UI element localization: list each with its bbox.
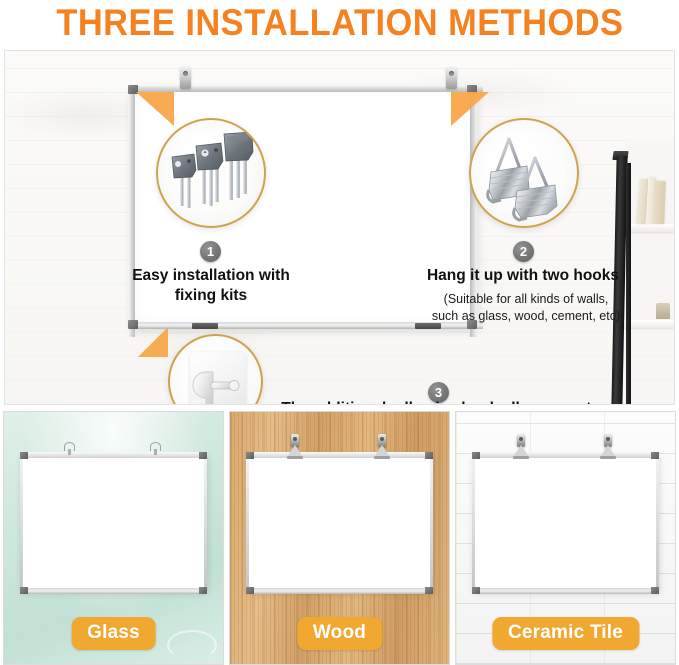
step-badge-1: 1 [200, 241, 221, 262]
callout-pointer-wedge [136, 92, 174, 126]
step-1-caption-line-1: Easy installation with [91, 266, 331, 286]
mini-corner [246, 452, 254, 459]
panel-label-glass: Glass [71, 617, 156, 650]
whiteboard-tray-clip [192, 323, 218, 329]
step-3-caption-line-1: The additional adhesive hook allows you … [243, 399, 639, 405]
clip-hook-icon [516, 434, 526, 456]
callout-circle-fixing-kit [156, 118, 266, 228]
infographic-page: THREE INSTALLATION METHODS [0, 0, 679, 665]
mini-frame-top [20, 452, 207, 458]
mini-frame-top [246, 452, 433, 458]
panel-label-ceramic-tile: Ceramic Tile [492, 617, 639, 650]
mini-frame-bottom [472, 588, 659, 594]
mini-corner [472, 452, 480, 459]
wall-hook-icon [180, 67, 191, 89]
mini-corner [20, 587, 28, 594]
page-title-bar: THREE INSTALLATION METHODS [0, 0, 679, 46]
wall-hook-icon [446, 67, 457, 89]
mini-corner [425, 587, 433, 594]
step-2-subcaption: (Suitable for all kinds of walls, such a… [397, 291, 655, 324]
loop-hook-icon [150, 442, 161, 455]
book [654, 181, 665, 224]
step-2-caption-line-1: Hang it up with two hooks [391, 266, 655, 286]
mini-corner [246, 587, 254, 594]
mini-frame-top [472, 452, 659, 458]
clip-hook-icon [603, 434, 613, 456]
whiteboard-corner [128, 320, 138, 329]
step-2-subcaption-line-2: such as glass, wood, cement, etc) [397, 308, 655, 325]
shelf-decor-item [656, 303, 670, 319]
mini-frame-bottom [20, 588, 207, 594]
glass-wall-panel: Glass [3, 411, 224, 665]
mini-corner [199, 587, 207, 594]
callout-pointer-wedge [138, 327, 168, 357]
step-2-caption: Hang it up with two hooks [391, 266, 655, 286]
step-badge-2: 2 [513, 241, 534, 262]
mini-corner [425, 452, 433, 459]
page-title: THREE INSTALLATION METHODS [56, 2, 623, 44]
ladder-bookshelf [596, 51, 674, 405]
mini-corner [20, 452, 28, 459]
callout-circle-adhesive-hook [168, 334, 263, 405]
surface-panels-row: Glass Wood [0, 411, 679, 665]
panel-label-wood: Wood [297, 617, 382, 650]
clip-hook-icon [377, 434, 387, 456]
mini-corner [651, 587, 659, 594]
step-3-caption: The additional adhesive hook allows you … [243, 399, 639, 405]
clip-hook-icon [290, 434, 300, 456]
callout-circle-two-hooks [469, 118, 579, 228]
hero-scene: 1 2 3 Easy installation with fixing kits… [4, 50, 675, 405]
step-1-caption-line-2: fixing kits [91, 286, 331, 306]
step-2-subcaption-line-1: (Suitable for all kinds of walls, [397, 291, 655, 308]
mounting-bracket-icon [158, 120, 266, 228]
mini-corner [472, 587, 480, 594]
callout-pointer-wedge [451, 92, 489, 126]
tile-wall-panel: Ceramic Tile [455, 411, 676, 665]
step-1-caption: Easy installation with fixing kits [91, 266, 331, 306]
mounted-whiteboard [472, 454, 659, 592]
mini-corner [651, 452, 659, 459]
wood-wall-panel: Wood [229, 411, 450, 665]
metal-hook-icon [471, 120, 579, 228]
mounted-whiteboard [20, 454, 207, 592]
adhesive-hook-icon [170, 336, 263, 405]
mounted-whiteboard [246, 454, 433, 592]
loop-hook-icon [64, 442, 75, 455]
mini-frame-bottom [246, 588, 433, 594]
mini-corner [199, 452, 207, 459]
